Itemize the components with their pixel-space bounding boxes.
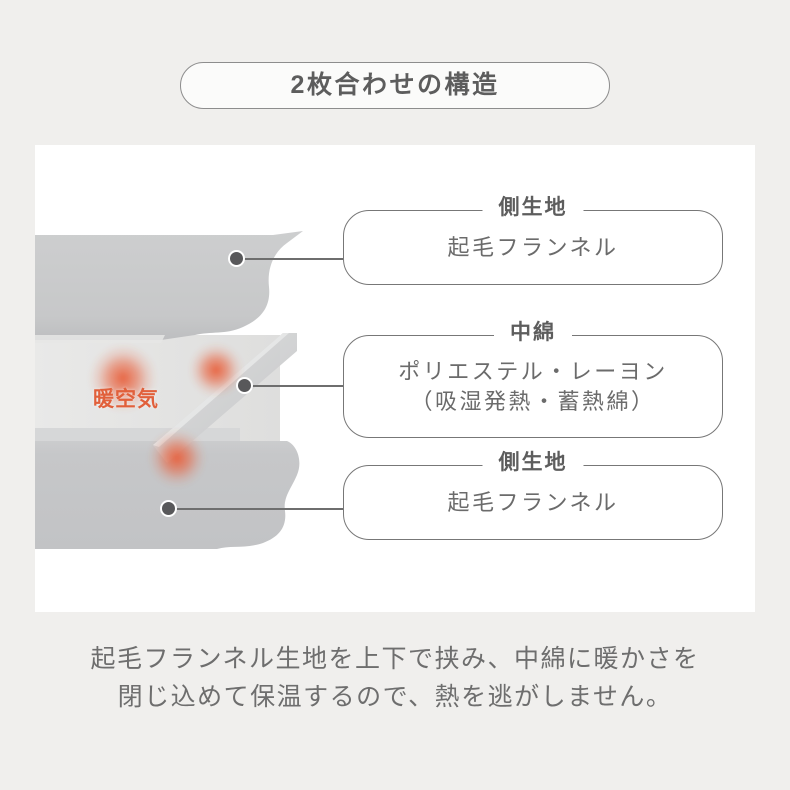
connector-dot-top: [228, 250, 245, 267]
caption-line-2: 閉じ込めて保温するので、熱を逃がしません。: [0, 678, 790, 716]
callout-head-bottom-fabric: 側生地: [483, 452, 584, 473]
callout-line-top-fabric-0: 起毛フランネル: [447, 233, 618, 262]
connector-dot-middle: [236, 377, 253, 394]
warm-air-label: 暖空気: [93, 389, 159, 410]
callout-box-top-fabric: 側生地 起毛フランネル: [343, 210, 723, 285]
caption-line-1: 起毛フランネル生地を上下で挟み、中綿に暖かさを: [0, 640, 790, 678]
diagram-card: 暖空気 側生地 起毛フランネル 中綿 ポリエステル・レーヨン （吸湿発熱・蓄熱綿…: [35, 145, 755, 612]
callout-line-batting-1: （吸湿発熱・蓄熱綿）: [410, 387, 655, 416]
callout-head-batting: 中綿: [494, 322, 572, 343]
caption-block: 起毛フランネル生地を上下で挟み、中綿に暖かさを 閉じ込めて保温するので、熱を逃が…: [0, 640, 790, 716]
connector-line-bottom: [168, 508, 343, 510]
callout-line-bottom-fabric-0: 起毛フランネル: [447, 488, 618, 517]
connector-line-top: [236, 258, 343, 260]
callout-line-batting-0: ポリエステル・レーヨン: [398, 357, 668, 386]
connector-dot-bottom: [160, 500, 177, 517]
fabric-layers-illustration: [35, 145, 375, 612]
section-title-pill: 2枚合わせの構造: [180, 62, 610, 109]
callout-head-top-fabric: 側生地: [483, 197, 584, 218]
callout-box-batting: 中綿 ポリエステル・レーヨン （吸湿発熱・蓄熱綿）: [343, 335, 723, 438]
callout-box-bottom-fabric: 側生地 起毛フランネル: [343, 465, 723, 540]
page-title: 2枚合わせの構造: [291, 73, 500, 98]
connector-line-middle: [244, 385, 343, 387]
